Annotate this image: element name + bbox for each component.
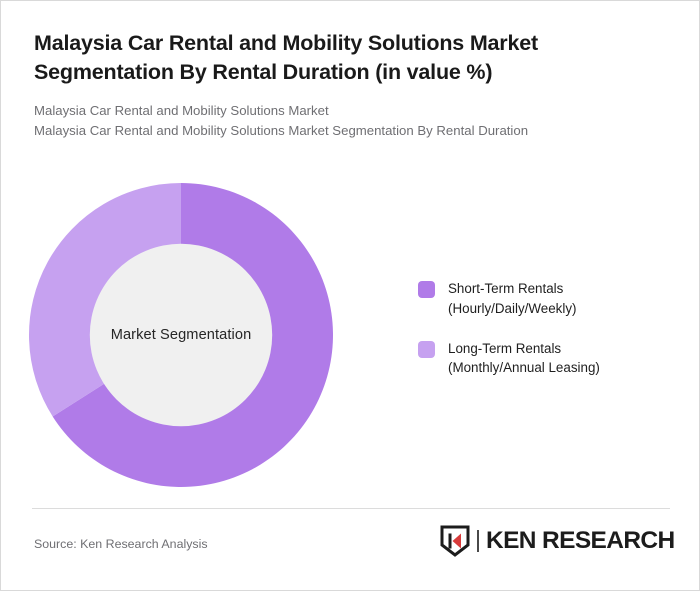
logo-wordmark: KEN RESEARCH [486, 529, 675, 553]
legend-item-short-term[interactable]: Short-Term Rentals (Hourly/Daily/Weekly) [418, 279, 673, 319]
legend-label-short-term-line1: Short-Term Rentals [448, 279, 576, 299]
legend-label-long-term-line1: Long-Term Rentals [448, 339, 600, 359]
k-stem [449, 534, 452, 549]
donut-chart: Market Segmentation [29, 183, 333, 487]
legend-label-short-term-line2: (Hourly/Daily/Weekly) [448, 299, 576, 319]
legend-swatch-long-term [418, 341, 435, 358]
logo-separator [477, 530, 479, 552]
legend-item-long-term[interactable]: Long-Term Rentals (Monthly/Annual Leasin… [418, 339, 673, 379]
footer-divider [32, 508, 670, 509]
legend-label-long-term-line2: (Monthly/Annual Leasing) [448, 358, 600, 378]
legend-label-short-term: Short-Term Rentals (Hourly/Daily/Weekly) [448, 279, 576, 319]
legend-label-long-term: Long-Term Rentals (Monthly/Annual Leasin… [448, 339, 600, 379]
source-note: Source: Ken Research Analysis [34, 537, 208, 551]
chart-page: Malaysia Car Rental and Mobility Solutio… [0, 0, 700, 591]
donut-svg [29, 183, 333, 487]
shield-icon [440, 525, 470, 557]
ken-research-logo: KEN RESEARCH [440, 525, 671, 557]
chart-area: Market Segmentation Short-Term Rentals (… [1, 161, 700, 501]
chart-legend: Short-Term Rentals (Hourly/Daily/Weekly)… [418, 279, 673, 378]
legend-swatch-short-term [418, 281, 435, 298]
page-title: Malaysia Car Rental and Mobility Solutio… [34, 29, 650, 87]
subtitle-group: Malaysia Car Rental and Mobility Solutio… [34, 101, 650, 141]
k-triangle-accent [453, 534, 462, 549]
donut-hole [90, 244, 272, 426]
subtitle-segmentation: Malaysia Car Rental and Mobility Solutio… [34, 121, 650, 141]
subtitle-market: Malaysia Car Rental and Mobility Solutio… [34, 101, 650, 121]
chart-header: Malaysia Car Rental and Mobility Solutio… [34, 29, 650, 141]
